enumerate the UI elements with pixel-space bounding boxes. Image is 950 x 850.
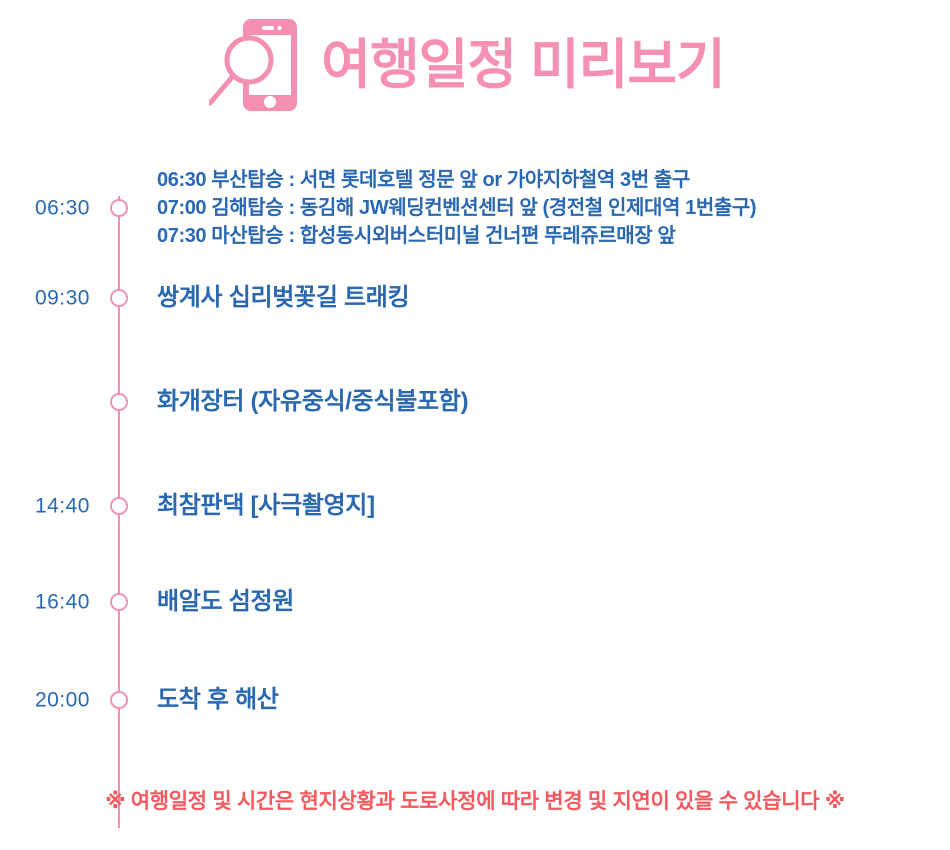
timeline-item-label: 도착 후 해산 — [157, 688, 279, 712]
page-header: 여행일정 미리보기 — [0, 0, 950, 130]
disclaimer-note: ※ 여행일정 및 시간은 현지상황과 도로사정에 따라 변경 및 지연이 있을 … — [0, 785, 950, 815]
timeline-item-label: 화개장터 (자유중식/중식불포함) — [157, 390, 468, 414]
timeline-detail-line: 07:00 김해탑승 : 동김해 JW웨딩컨벤션센터 앞 (경전철 인제대역 1… — [157, 194, 756, 222]
timeline-time-label: 16:40 — [0, 592, 90, 613]
timeline-time-label: 09:30 — [0, 288, 90, 309]
timeline-dot — [110, 289, 128, 307]
timeline-detail-line: 06:30 부산탑승 : 서면 롯데호텔 정문 앞 or 가야지하철역 3번 출… — [157, 166, 756, 194]
timeline-time-label: 06:30 — [0, 198, 90, 219]
timeline-time-label: 20:00 — [0, 690, 90, 711]
timeline-dot — [110, 393, 128, 411]
timeline-detail-line: 07:30 마산탑승 : 합성동시외버스터미널 건너편 뚜레쥬르매장 앞 — [157, 222, 756, 250]
timeline-item-label: 최참판댁 [사극촬영지] — [157, 494, 375, 518]
timeline-detail-group: 06:30 부산탑승 : 서면 롯데호텔 정문 앞 or 가야지하철역 3번 출… — [157, 166, 756, 250]
timeline-item-label: 배알도 섬정원 — [157, 590, 294, 614]
timeline-dot — [110, 199, 128, 217]
smartphone-magnifier-icon — [209, 13, 305, 117]
header-inner: 여행일정 미리보기 — [209, 13, 724, 117]
timeline-dot — [110, 593, 128, 611]
page-title: 여행일정 미리보기 — [321, 38, 724, 92]
timeline-time-label: 14:40 — [0, 496, 90, 517]
timeline-item-label: 쌍계사 십리벚꽃길 트래킹 — [157, 286, 409, 310]
timeline-dot — [110, 497, 128, 515]
itinerary-timeline: 06:30 06:30 부산탑승 : 서면 롯데호텔 정문 앞 or 가야지하철… — [0, 130, 950, 770]
timeline-dot — [110, 691, 128, 709]
